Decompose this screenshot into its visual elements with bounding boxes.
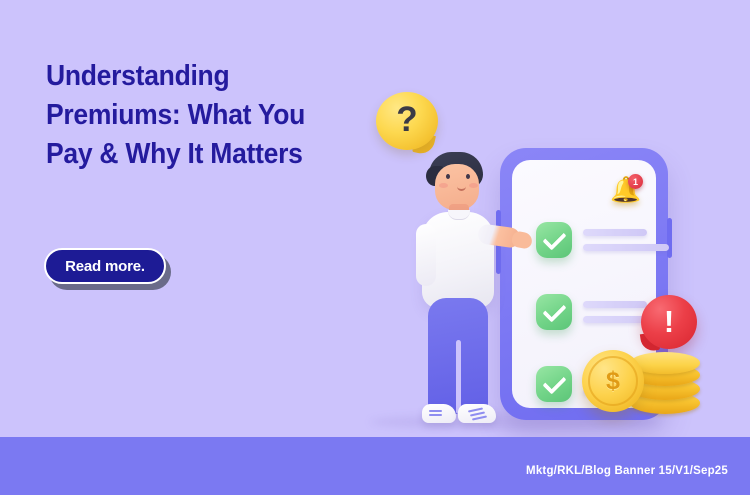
shoe-stripe — [429, 414, 442, 416]
checkbox-checked-icon[interactable] — [536, 222, 572, 258]
checklist-row[interactable] — [536, 222, 669, 258]
coin-front: $ — [582, 350, 644, 412]
page-title: Understanding Premiums: What You Pay & W… — [46, 57, 353, 174]
shoe-stripe — [472, 415, 487, 420]
character-arm-left — [416, 224, 436, 286]
checkmark-glyph — [542, 298, 566, 322]
checkbox-checked-icon[interactable] — [536, 294, 572, 330]
alert-bubble-icon: ! — [637, 295, 699, 355]
character-shoe-left — [422, 404, 456, 423]
character-illustration — [400, 152, 520, 432]
placeholder-line — [583, 244, 669, 251]
character-cheek-right — [469, 183, 478, 188]
coins-illustration: $ — [582, 348, 700, 420]
exclamation-mark-glyph: ! — [641, 295, 697, 349]
character-pants — [428, 298, 488, 414]
notification-bell-icon[interactable]: 🔔 1 — [608, 176, 642, 210]
notification-badge: 1 — [628, 174, 643, 189]
checkmark-glyph — [542, 226, 566, 250]
shoe-stripe — [429, 410, 442, 412]
blog-banner: Understanding Premiums: What You Pay & W… — [0, 0, 750, 495]
checkmark-glyph — [542, 370, 566, 394]
character-eye-right — [466, 174, 470, 179]
question-mark-glyph: ? — [376, 92, 438, 150]
question-bubble-icon: ? — [376, 92, 442, 154]
read-more-button-wrap: Read more. — [44, 248, 166, 284]
character-shoe-right — [458, 404, 496, 423]
checkbox-checked-icon[interactable] — [536, 366, 572, 402]
checklist-text-placeholder — [583, 229, 669, 251]
placeholder-line — [583, 229, 647, 236]
footer-reference-code: Mktg/RKL/Blog Banner 15/V1/Sep25 — [526, 465, 728, 477]
character-eye-left — [446, 174, 450, 179]
read-more-button[interactable]: Read more. — [44, 248, 166, 284]
character-cheek-left — [439, 183, 448, 188]
illustration: ? 🔔 1 — [360, 0, 750, 440]
dollar-sign-glyph: $ — [588, 356, 638, 406]
footer-band: Mktg/RKL/Blog Banner 15/V1/Sep25 — [0, 437, 750, 495]
